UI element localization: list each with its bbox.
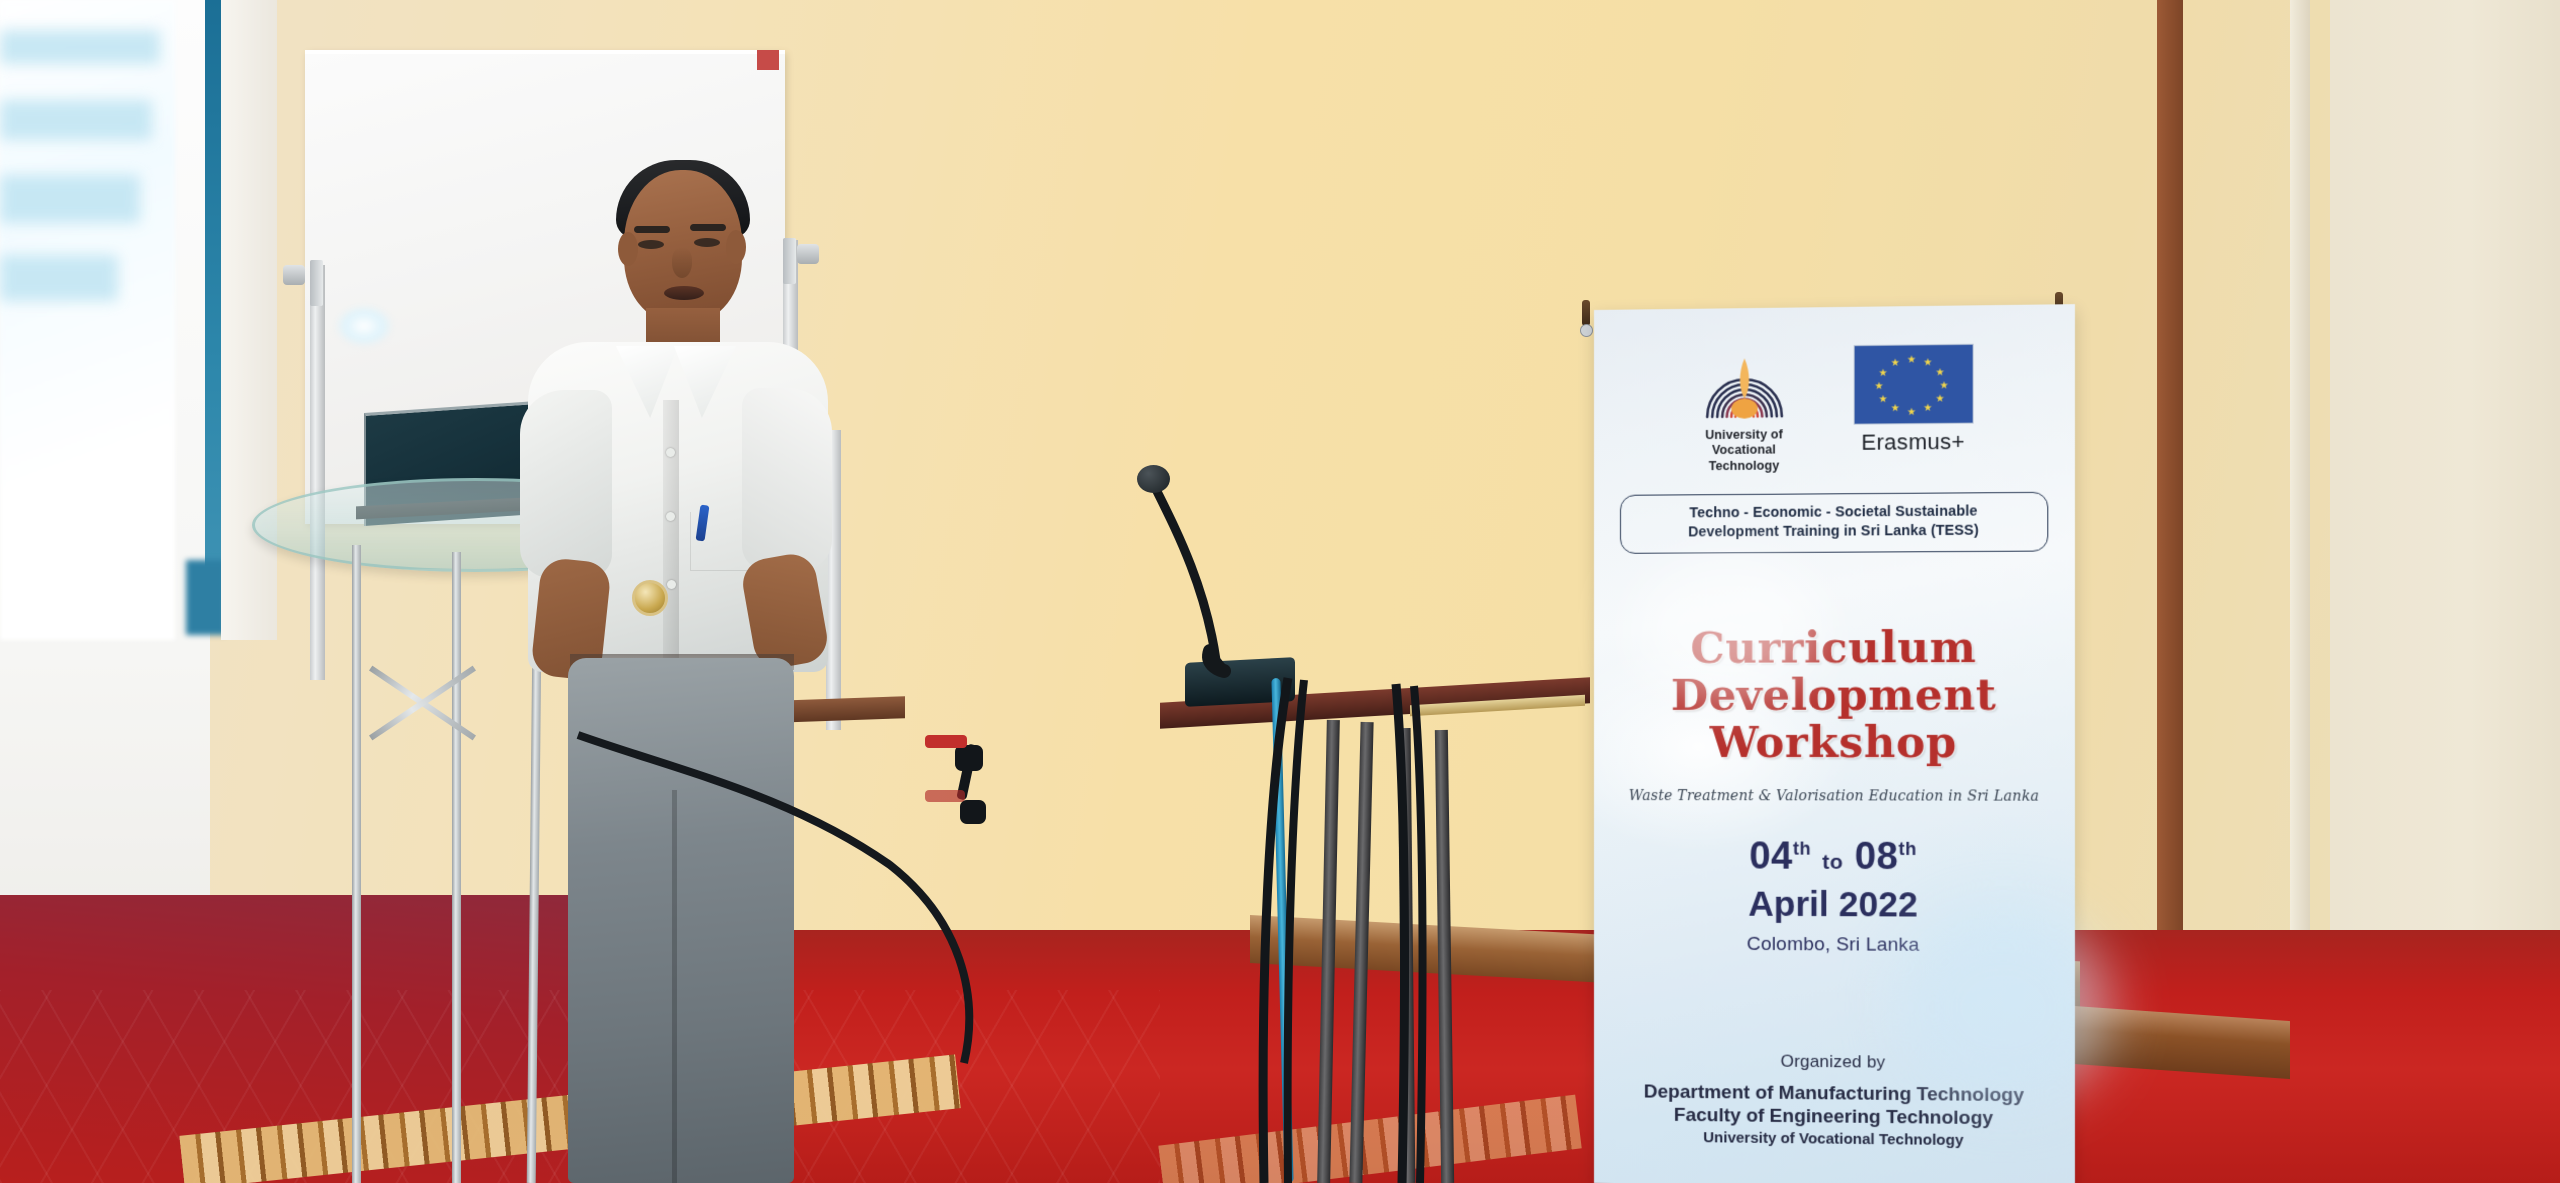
eye-left — [638, 240, 664, 249]
glass-table-leg — [452, 552, 461, 1183]
whiteboard-bracket-left — [310, 260, 323, 306]
whiteboard-stand-post-left — [310, 265, 325, 680]
workshop-subtitle: Waste Treatment & Valorisation Education… — [1594, 788, 2075, 805]
organizer-university: University of Vocational Technology — [1594, 1128, 2075, 1150]
university-name: University of Vocational Technology — [1689, 427, 1800, 474]
erasmus-logo-block: ★ ★ ★ ★ ★ ★ ★ ★ ★ ★ ★ ★ Erasmus+ — [1848, 344, 1978, 456]
photo-scene: University of Vocational Technology ★ ★ … — [0, 0, 2560, 1183]
projection-band — [0, 100, 152, 140]
shirt-placket — [663, 400, 679, 668]
projection-band — [0, 175, 140, 223]
blue-wall-strip — [205, 0, 221, 600]
wrist-watch — [632, 580, 668, 616]
banner-hook-tip-left — [1580, 324, 1593, 337]
ear-left — [618, 232, 638, 266]
microphone-capsule — [1137, 465, 1170, 493]
date-range-line: 04th to 08th — [1594, 835, 2075, 880]
mouth — [664, 286, 704, 300]
project-title-line2: Development Training in Sri Lanka (TESS) — [1631, 521, 2037, 543]
date-end-suffix: th — [1899, 839, 1917, 859]
workshop-title-line3: Workshop — [1594, 722, 2075, 766]
organizer-block: Organized by Department of Manufacturing… — [1594, 1050, 2075, 1151]
date-start-suffix: th — [1793, 839, 1811, 859]
university-emblem-icon — [1701, 346, 1788, 421]
table-cable-connector — [960, 800, 986, 824]
glass-table-leg — [352, 545, 361, 1183]
floor-cable — [560, 725, 1180, 1065]
workshop-title: Curriculum Development Workshop — [1594, 626, 2075, 769]
date-start-day: 04 — [1749, 835, 1793, 877]
eyebrow-right — [690, 224, 726, 231]
ear-right — [726, 230, 746, 264]
shirt-button — [666, 448, 675, 457]
organizer-faculty: Faculty of Engineering Technology — [1594, 1103, 2075, 1131]
left-wall-trim — [221, 0, 277, 640]
shirt-sleeve-left — [520, 390, 612, 578]
event-city: Colombo, Sri Lanka — [1594, 933, 2075, 958]
date-connector: to — [1822, 851, 1843, 874]
european-union-flag-icon: ★ ★ ★ ★ ★ ★ ★ ★ ★ ★ ★ ★ — [1853, 344, 1973, 425]
brown-door-frame — [2157, 0, 2183, 1000]
whiteboard-glare — [335, 305, 393, 347]
nose — [672, 248, 692, 278]
roll-up-banner: University of Vocational Technology ★ ★ … — [1594, 304, 2075, 1183]
eyebrow-left — [634, 226, 670, 233]
projection-screen-glow — [0, 0, 175, 640]
workshop-title-line2: Development — [1594, 674, 2075, 718]
red-connector — [925, 790, 965, 802]
shirt-button — [666, 512, 675, 521]
whiteboard-knob-left — [283, 265, 305, 285]
shirt-sleeve-right — [742, 388, 832, 570]
erasmus-plus-label: Erasmus+ — [1848, 429, 1978, 456]
project-title-box: Techno - Economic - Societal Sustainable… — [1620, 492, 2048, 554]
organized-by-label: Organized by — [1594, 1050, 2075, 1074]
shirt-button — [667, 580, 676, 589]
table-cable-connector — [955, 745, 983, 771]
date-end-day: 08 — [1855, 836, 1899, 878]
whiteboard-red-corner — [757, 50, 779, 70]
project-title-line1: Techno - Economic - Societal Sustainable — [1631, 502, 2037, 524]
projection-band — [0, 30, 160, 64]
workshop-title-line1: Curriculum — [1594, 626, 2075, 671]
eye-right — [694, 238, 720, 247]
workshop-dates: 04th to 08th April 2022 Colombo, Sri Lan… — [1594, 835, 2075, 958]
red-connector — [925, 735, 967, 748]
banner-logos-row: University of Vocational Technology ★ ★ … — [1594, 343, 2075, 475]
banner-hook-left — [1582, 300, 1590, 326]
projection-band — [0, 255, 118, 301]
cable-bundle — [1230, 670, 1430, 1183]
blue-wall-strip-lower — [186, 560, 226, 635]
university-logo-block: University of Vocational Technology — [1689, 346, 1800, 474]
date-month-year: April 2022 — [1594, 884, 2075, 926]
